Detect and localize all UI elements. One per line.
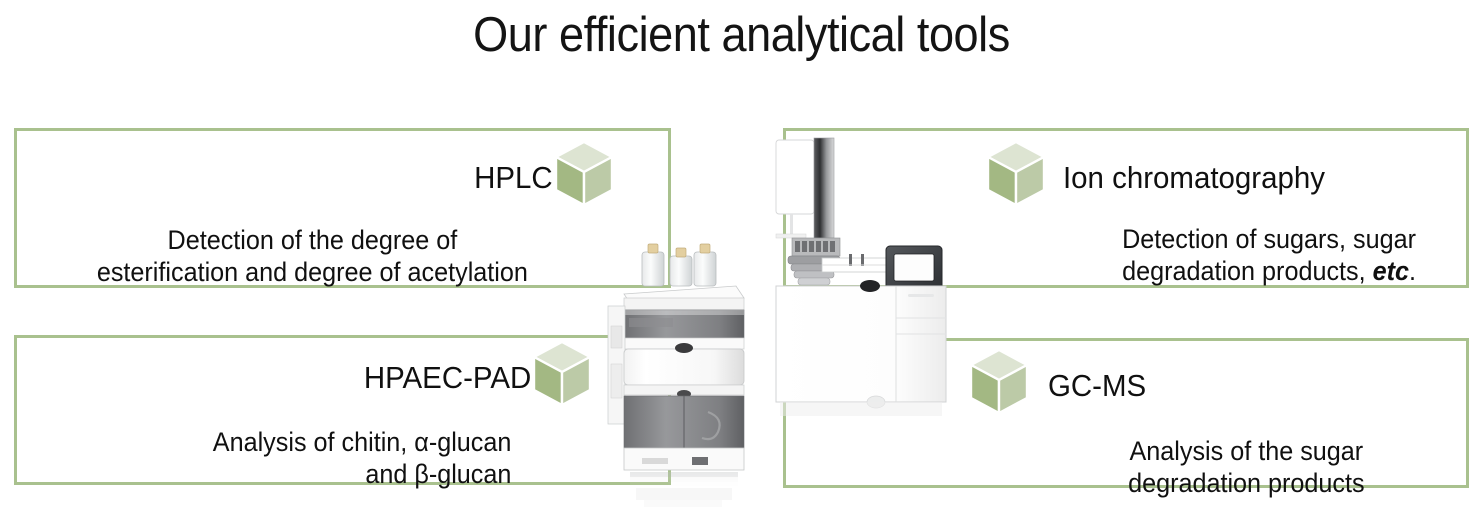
panel-hpaec-description: Analysis of chitin, α-glucan and β-gluca… (47, 426, 671, 490)
panel-ion-heading: Ion chromatography (1063, 160, 1325, 196)
panel-gcms-heading-row: GC-MS (968, 348, 1468, 423)
panel-hpaec-heading: HPAEC-PAD (364, 360, 531, 396)
panel-hpaec-heading-row: HPAEC-PAD (14, 340, 671, 415)
green-cube-icon (553, 140, 615, 215)
page-title: Our efficient analytical tools (59, 4, 1423, 66)
green-cube-icon (531, 340, 593, 415)
green-cube-icon (985, 140, 1047, 215)
panel-hpaec-content: HPAEC-PAD Analysis of chitin, α-glucan a… (14, 340, 671, 490)
panel-ion-description-line-2: degradation products, etc. (1088, 255, 1451, 287)
italic-etc: etc (1373, 256, 1409, 286)
panel-hplc-content: HPLC Detection of the degree of esterifi… (14, 140, 671, 288)
panel-hpaec-description-line-1: Analysis of chitin, α-glucan (47, 426, 512, 458)
green-cube-icon (968, 348, 1030, 423)
ion-chromatograph-photo (766, 134, 982, 424)
panel-gcms-description-line-2: degradation products (1050, 467, 1443, 499)
panel-hpaec-description-line-2: and β-glucan (47, 458, 512, 490)
panel-gcms-heading: GC-MS (1048, 368, 1146, 404)
slide-canvas: Our efficient analytical tools (0, 0, 1483, 508)
panel-gcms-description: Analysis of the sugar degradation produc… (968, 435, 1443, 499)
panel-hplc-heading: HPLC (474, 160, 553, 196)
panel-ion-content: Ion chromatography Detection of sugars, … (985, 140, 1475, 287)
panel-ion-description-line-1: Detection of sugars, sugar (1088, 223, 1451, 255)
panel-ion-heading-row: Ion chromatography (985, 140, 1475, 215)
panel-gcms-content: GC-MS Analysis of the sugar degradation … (968, 348, 1468, 499)
panel-ion-description: Detection of sugars, sugar degradation p… (985, 223, 1451, 287)
panel-gcms-description-line-1: Analysis of the sugar (1050, 435, 1443, 467)
panel-hplc-description-line-1: Detection of the degree of (47, 224, 578, 256)
panel-hplc-description: Detection of the degree of esterificatio… (47, 224, 671, 288)
panel-hplc-description-line-2: esterification and degree of acetylation (47, 256, 578, 288)
panel-hplc-heading-row: HPLC (14, 140, 671, 215)
